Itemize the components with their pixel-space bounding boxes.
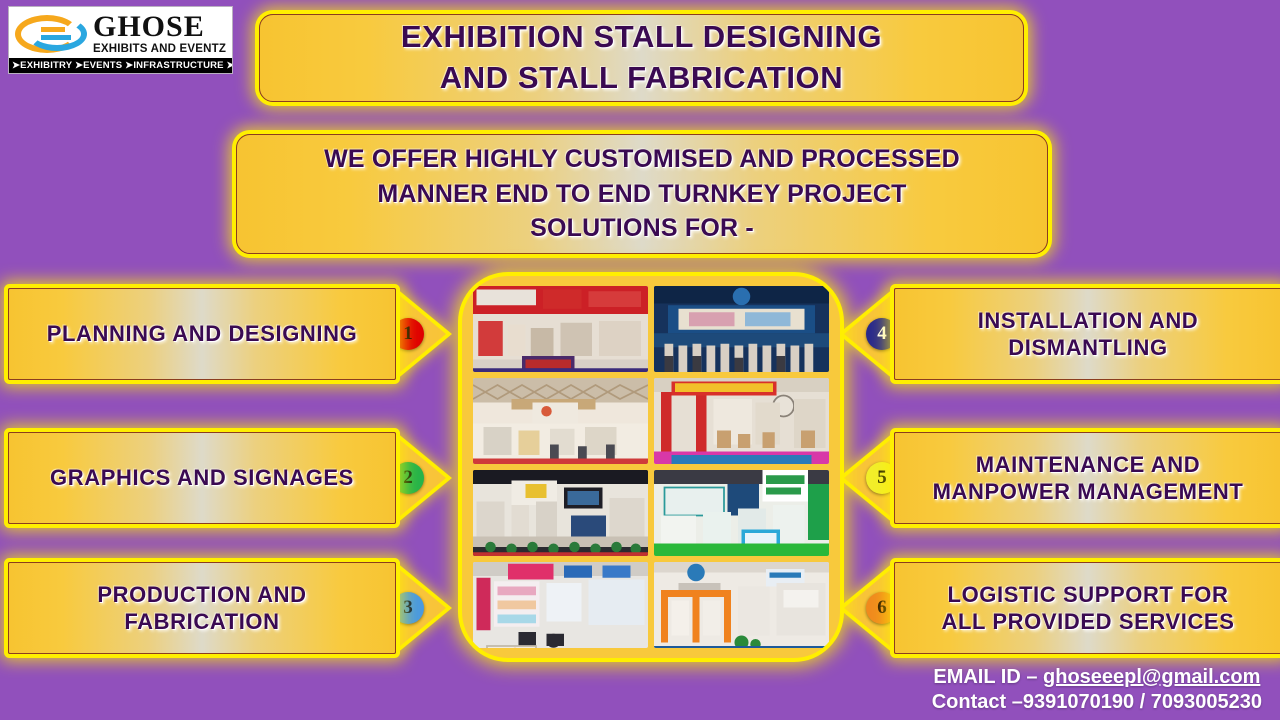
service-callout-6-body: LOGISTIC SUPPORT FOR ALL PROVIDED SERVIC…: [894, 562, 1280, 654]
subtitle-text: WE OFFER HIGHLY CUSTOMISED AND PROCESSED…: [324, 142, 960, 246]
collage-photo-7-image: [473, 562, 648, 648]
collage-photo-2: [654, 286, 829, 372]
collage-photo-1-image: [473, 286, 648, 372]
service-callout-4[interactable]: 4 INSTALLATION AND DISMANTLING: [838, 288, 1280, 380]
service-callout-2[interactable]: GRAPHICS AND SIGNAGES 2: [8, 432, 452, 524]
subtitle-line3: SOLUTIONS FOR -: [324, 211, 960, 246]
footer-contact-numbers: Contact –9391070190 / 7093005230: [932, 690, 1262, 716]
collage-photo-7: [473, 562, 648, 648]
service-4-line2: DISMANTLING: [978, 334, 1199, 362]
service-callout-4-label: INSTALLATION AND DISMANTLING: [978, 307, 1199, 362]
collage-photo-2-image: [654, 286, 829, 372]
service-callout-5-body: MAINTENANCE AND MANPOWER MANAGEMENT: [894, 432, 1280, 524]
company-logo: GHOSE EXHIBITS AND EVENTZ ➤EXHIBITRY ➤EV…: [8, 6, 233, 74]
service-1-arrow-icon: 1: [396, 288, 452, 380]
service-1-line1: PLANNING AND DESIGNING: [47, 320, 358, 348]
service-2-arrow-icon: 2: [396, 432, 452, 524]
collage-photo-8-image: [654, 562, 829, 648]
service-5-line2: MANPOWER MANAGEMENT: [933, 478, 1244, 506]
service-callout-3-label: PRODUCTION AND FABRICATION: [97, 581, 306, 636]
service-callout-6-label: LOGISTIC SUPPORT FOR ALL PROVIDED SERVIC…: [942, 581, 1235, 636]
collage-photo-1: [473, 286, 648, 372]
service-2-number-badge: 2: [392, 462, 424, 494]
photo-collage: [462, 276, 840, 658]
collage-photo-6: [654, 470, 829, 556]
ghose-g-icon: [13, 11, 91, 57]
logo-wordmark: GHOSE EXHIBITS AND EVENTZ: [91, 12, 226, 56]
collage-photo-8: [654, 562, 829, 648]
service-callout-5[interactable]: 5 MAINTENANCE AND MANPOWER MANAGEMENT: [838, 432, 1280, 524]
service-5-arrow-icon: 5: [838, 432, 894, 524]
subtitle-line1: WE OFFER HIGHLY CUSTOMISED AND PROCESSED: [324, 142, 960, 177]
collage-photo-4: [654, 378, 829, 464]
photo-collage-grid: [473, 286, 829, 648]
service-callout-1-body: PLANNING AND DESIGNING: [8, 288, 396, 380]
service-4-arrow-icon: 4: [838, 288, 894, 380]
subtitle-line2: MANNER END TO END TURNKEY PROJECT: [324, 177, 960, 212]
service-callout-1[interactable]: PLANNING AND DESIGNING 1: [8, 288, 452, 380]
header-title: EXHIBITION STALL DESIGNING AND STALL FAB…: [401, 17, 882, 99]
service-callout-4-body: INSTALLATION AND DISMANTLING: [894, 288, 1280, 380]
service-5-line1: MAINTENANCE AND: [933, 451, 1244, 479]
service-3-number-badge: 3: [392, 592, 424, 624]
footer-email-address[interactable]: ghoseeepl@gmail.com: [1043, 666, 1260, 688]
logo-services-strip: ➤EXHIBITRY ➤EVENTS ➤INFRASTRUCTURE ➤RETA…: [9, 58, 232, 73]
header-title-line1: EXHIBITION STALL DESIGNING: [401, 17, 882, 58]
collage-photo-3: [473, 378, 648, 464]
service-callout-6[interactable]: 6 LOGISTIC SUPPORT FOR ALL PROVIDED SERV…: [838, 562, 1280, 654]
service-2-line1: GRAPHICS AND SIGNAGES: [50, 464, 354, 492]
service-6-arrow-icon: 6: [838, 562, 894, 654]
service-1-number-badge: 1: [392, 318, 424, 350]
collage-photo-6-image: [654, 470, 829, 556]
service-callout-1-label: PLANNING AND DESIGNING: [47, 320, 358, 348]
service-callout-3-body: PRODUCTION AND FABRICATION: [8, 562, 396, 654]
service-3-arrow-icon: 3: [396, 562, 452, 654]
collage-photo-5: [473, 470, 648, 556]
footer-contact: EMAIL ID – ghoseeepl@gmail.com Contact –…: [932, 665, 1262, 716]
service-callout-2-label: GRAPHICS AND SIGNAGES: [50, 464, 354, 492]
service-callout-3[interactable]: PRODUCTION AND FABRICATION 3: [8, 562, 452, 654]
logo-main-row: GHOSE EXHIBITS AND EVENTZ: [9, 7, 232, 58]
collage-photo-4-image: [654, 378, 829, 464]
header-banner: EXHIBITION STALL DESIGNING AND STALL FAB…: [259, 14, 1024, 102]
service-3-line1: PRODUCTION AND: [97, 581, 306, 609]
subtitle-banner: WE OFFER HIGHLY CUSTOMISED AND PROCESSED…: [236, 134, 1048, 254]
service-callout-2-body: GRAPHICS AND SIGNAGES: [8, 432, 396, 524]
logo-company-name: GHOSE: [93, 12, 226, 42]
footer-email-line: EMAIL ID – ghoseeepl@gmail.com: [932, 665, 1262, 691]
service-6-line2: ALL PROVIDED SERVICES: [942, 608, 1235, 636]
service-3-line2: FABRICATION: [97, 608, 306, 636]
collage-photo-5-image: [473, 470, 648, 556]
service-6-line1: LOGISTIC SUPPORT FOR: [942, 581, 1235, 609]
footer-email-label: EMAIL ID –: [933, 666, 1043, 688]
service-callout-5-label: MAINTENANCE AND MANPOWER MANAGEMENT: [933, 451, 1244, 506]
logo-tagline: EXHIBITS AND EVENTZ: [93, 43, 226, 56]
header-title-line2: AND STALL FABRICATION: [401, 58, 882, 99]
slide-canvas: GHOSE EXHIBITS AND EVENTZ ➤EXHIBITRY ➤EV…: [0, 0, 1280, 720]
service-4-line1: INSTALLATION AND: [978, 307, 1199, 335]
collage-photo-3-image: [473, 378, 648, 464]
